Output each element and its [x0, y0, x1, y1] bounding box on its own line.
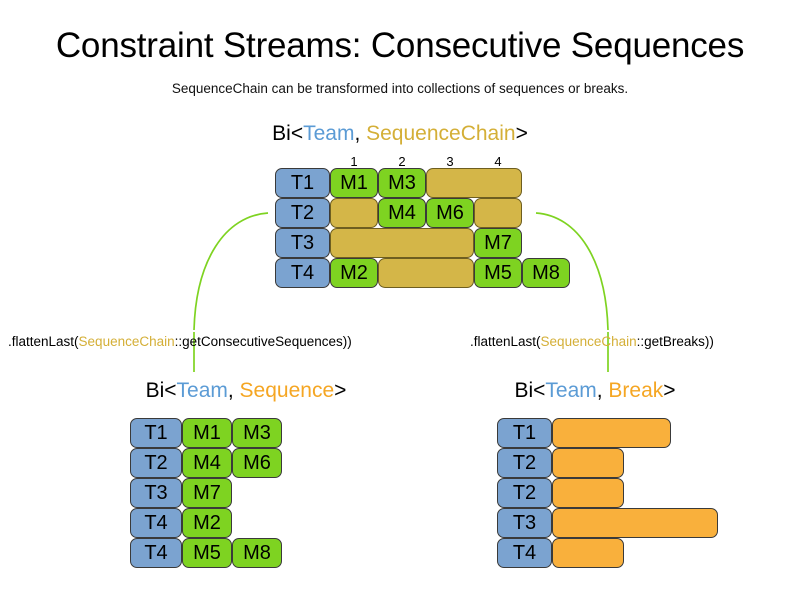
break-team-cell-0: T1 [497, 418, 552, 448]
sequence-match-cell-M1: M1 [182, 418, 232, 448]
chain-team-cell-T3: T3 [275, 228, 330, 258]
chain-type-generic-sequencechain: SequenceChain [366, 122, 515, 145]
break-bar-1 [552, 448, 624, 478]
break-team-cell-3: T3 [497, 508, 552, 538]
sequence-team-cell-2: T3 [130, 478, 182, 508]
chain-gap-cell-T2-3 [474, 198, 522, 228]
break-bar-2 [552, 478, 624, 508]
sequence-team-cell-3: T4 [130, 508, 182, 538]
sequence-type-prefix: Bi< [146, 379, 177, 402]
chain-gap-cell-T3-0 [330, 228, 474, 258]
sequence-match-cell-M6: M6 [232, 448, 282, 478]
break-type-prefix: Bi< [514, 379, 545, 402]
chain-type-suffix: > [516, 122, 528, 145]
chain-match-cell-M5: M5 [474, 258, 522, 288]
flatten-right-prefix: .flattenLast( [470, 334, 541, 349]
chain-type-separator: , [354, 122, 366, 145]
flatten-left-class: SequenceChain [79, 334, 175, 349]
flatten-left-rest: ::getConsecutiveSequences)) [175, 334, 352, 349]
chain-gap-cell-T4-1 [378, 258, 474, 288]
chain-match-cell-M3: M3 [378, 168, 426, 198]
sequence-team-cell-0: T1 [130, 418, 182, 448]
sequence-match-cell-M5: M5 [182, 538, 232, 568]
chain-team-cell-T1: T1 [275, 168, 330, 198]
column-header-2: 2 [392, 154, 412, 169]
sequence-type-generic-sequence: Sequence [240, 379, 335, 402]
break-type-generic-break: Break [608, 379, 663, 402]
chain-type-label: Bi<Team, SequenceChain> [0, 122, 800, 146]
chain-type-prefix: Bi< [272, 122, 303, 145]
chain-match-cell-M4: M4 [378, 198, 426, 228]
sequence-type-separator: , [228, 379, 240, 402]
sequence-match-cell-M7: M7 [182, 478, 232, 508]
break-type-generic-team: Team [545, 379, 596, 402]
break-type-separator: , [597, 379, 609, 402]
sequence-team-cell-1: T2 [130, 448, 182, 478]
chain-match-cell-M1: M1 [330, 168, 378, 198]
flatten-left-prefix: .flattenLast( [8, 334, 79, 349]
column-header-3: 3 [440, 154, 460, 169]
page-subtitle: SequenceChain can be transformed into co… [0, 81, 800, 96]
break-bar-4 [552, 538, 624, 568]
sequence-team-cell-4: T4 [130, 538, 182, 568]
break-team-cell-4: T4 [497, 538, 552, 568]
break-type-label: Bi<Team, Break> [470, 379, 720, 403]
sequence-type-label: Bi<Team, Sequence> [96, 379, 396, 403]
sequence-match-cell-M4: M4 [182, 448, 232, 478]
sequence-match-cell-M2: M2 [182, 508, 232, 538]
column-header-1: 1 [344, 154, 364, 169]
sequence-type-suffix: > [334, 379, 346, 402]
page-title: Constraint Streams: Consecutive Sequence… [0, 26, 800, 66]
break-bar-3 [552, 508, 718, 538]
column-header-4: 4 [488, 154, 508, 169]
chain-match-cell-M7: M7 [474, 228, 522, 258]
chain-gap-cell-T2-0 [330, 198, 378, 228]
chain-match-cell-M8: M8 [522, 258, 570, 288]
break-team-cell-2: T2 [497, 478, 552, 508]
break-team-cell-1: T2 [497, 448, 552, 478]
flatten-right-expression: .flattenLast(SequenceChain::getBreaks)) [470, 334, 714, 349]
flatten-left-expression: .flattenLast(SequenceChain::getConsecuti… [8, 334, 352, 349]
chain-team-cell-T2: T2 [275, 198, 330, 228]
break-type-suffix: > [663, 379, 675, 402]
chain-gap-cell-T1-2 [426, 168, 522, 198]
sequence-match-cell-M3: M3 [232, 418, 282, 448]
flatten-right-class: SequenceChain [541, 334, 637, 349]
flatten-right-rest: ::getBreaks)) [637, 334, 714, 349]
chain-type-generic-team: Team [303, 122, 354, 145]
chain-team-cell-T4: T4 [275, 258, 330, 288]
chain-match-cell-M2: M2 [330, 258, 378, 288]
sequence-match-cell-M8: M8 [232, 538, 282, 568]
chain-match-cell-M6: M6 [426, 198, 474, 228]
sequence-type-generic-team: Team [177, 379, 228, 402]
break-bar-0 [552, 418, 671, 448]
